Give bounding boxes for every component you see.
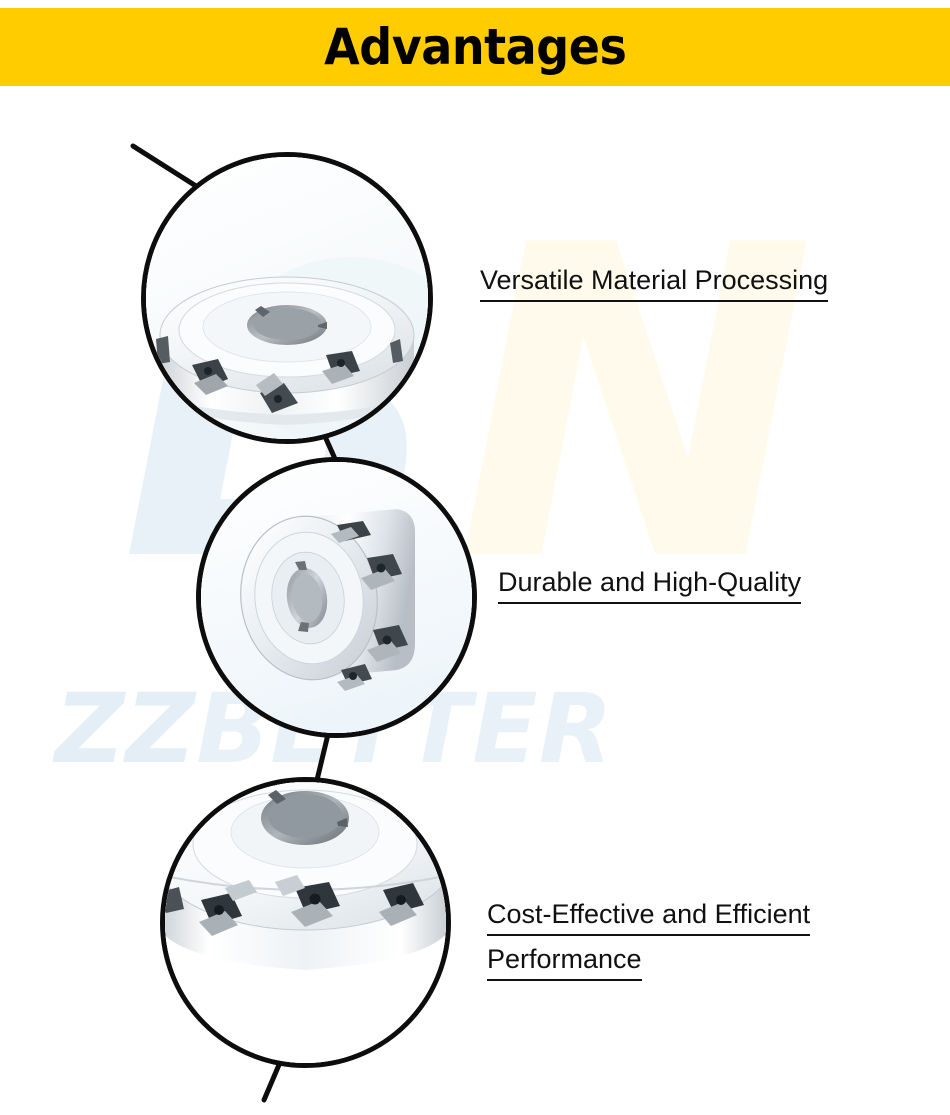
feature-image-3-inner (165, 782, 446, 1063)
feature-label-3-line-2: Performance (487, 940, 642, 981)
cutter-head-illustration-1 (146, 157, 428, 439)
feature-image-1 (141, 152, 433, 444)
feature-label-1-line-1: Versatile Material Processing (480, 261, 828, 302)
feature-label-3: Cost-Effective and Efficient Performance (487, 895, 810, 981)
feature-label-1: Versatile Material Processing (480, 261, 828, 302)
feature-image-2 (196, 457, 477, 738)
feature-label-2-line-1: Durable and High-Quality (498, 563, 801, 604)
feature-image-3 (160, 777, 451, 1068)
feature-image-2-inner (201, 462, 472, 733)
cutter-head-illustration-3 (165, 782, 446, 1063)
advantages-infographic: BN ZZBETTER Advantages (0, 0, 950, 1115)
cutter-head-illustration-2 (201, 462, 472, 733)
feature-label-2: Durable and High-Quality (498, 563, 801, 604)
feature-label-3-line-1: Cost-Effective and Efficient (487, 895, 810, 936)
feature-image-1-inner (146, 157, 428, 439)
